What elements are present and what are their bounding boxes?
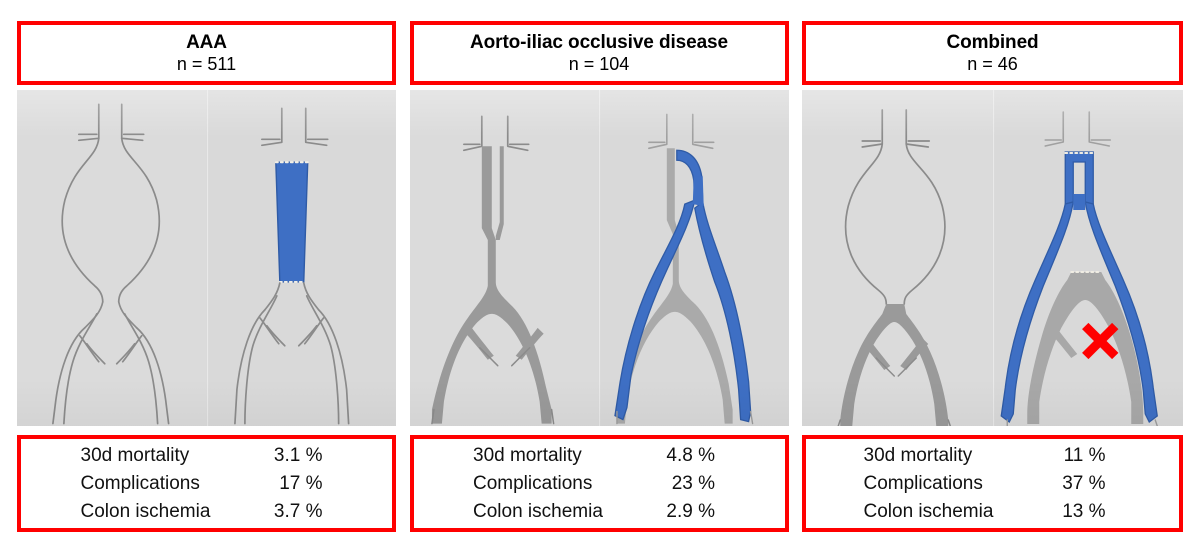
internal-iliac-left [465,328,493,360]
stat-label: Complications [864,470,1032,498]
comparison-figure: AAA n = 511 [0,0,1200,553]
illustration-aaa [17,90,396,426]
stat-label: 30d mortality [81,442,241,470]
illustration-combined-before [802,90,993,426]
stat-label: Colon ischemia [864,498,1032,526]
occlusion-shape-right [495,146,507,240]
tube-graft-shape [275,162,307,282]
illustration-combined [802,90,1183,426]
native-occluded-vessels [617,148,733,423]
panel-title: Aorto-iliac occlusive disease [470,32,728,53]
stat-value: 4.8 % [633,442,725,470]
aneurysm-diagram-icon [17,90,207,426]
stat-value: 11 % [1032,442,1122,470]
y-graft-with-exclusion-diagram-icon [993,90,1184,426]
stat-row: Complications 17 % [81,470,333,498]
panel-sample-size: n = 104 [569,54,630,74]
stat-row: 30d mortality 3.1 % [81,442,333,470]
illustration-aorto-iliac [410,90,789,426]
y-graft-crotch [693,176,704,206]
stats-aaa: 30d mortality 3.1 % Complications 17 % C… [17,435,396,532]
panel-combined: Combined n = 46 [802,21,1183,532]
tube-graft-diagram-icon [207,90,397,426]
iliac-occlusion-shape [840,304,948,426]
stat-label: 30d mortality [864,442,1032,470]
stat-value: 37 % [1032,470,1122,498]
stat-label: Colon ischemia [81,498,241,526]
stat-row: 30d mortality 11 % [864,442,1122,470]
illustration-aaa-after [207,90,397,426]
stat-row: 30d mortality 4.8 % [473,442,725,470]
stats-combined: 30d mortality 11 % Complications 37 % Co… [802,435,1183,532]
occlusive-disease-diagram-icon [410,90,600,426]
panel-aorto-iliac: Aorto-iliac occlusive disease n = 104 [410,21,789,532]
stat-label: Complications [473,470,633,498]
combined-pathology-diagram-icon [802,90,993,426]
stat-value: 23 % [633,470,725,498]
occlusion-shape [431,146,551,423]
panel-header-aaa: AAA n = 511 [17,21,396,85]
stat-row: Colon ischemia 13 % [864,498,1122,526]
y-graft-diagram-icon [599,90,789,426]
stat-value: 13 % [1032,498,1122,526]
stat-row: Colon ischemia 3.7 % [81,498,333,526]
stat-value: 17 % [241,470,333,498]
panel-aaa: AAA n = 511 [17,21,396,532]
stat-value: 3.7 % [241,498,333,526]
illustration-aorto-iliac-after [599,90,789,426]
panel-header-aorto-iliac: Aorto-iliac occlusive disease n = 104 [410,21,789,85]
panel-title: Combined [946,32,1038,53]
panel-title: AAA [186,32,227,53]
stats-aorto-iliac: 30d mortality 4.8 % Complications 23 % C… [410,435,789,532]
illustration-aaa-before [17,90,207,426]
illustration-aorto-iliac-before [410,90,600,426]
panel-header-combined: Combined n = 46 [802,21,1183,85]
red-x-marker [1085,326,1115,356]
stat-row: Colon ischemia 2.9 % [473,498,725,526]
stat-value: 3.1 % [241,442,333,470]
panel-sample-size: n = 511 [177,54,236,74]
stat-value: 2.9 % [633,498,725,526]
stat-row: Complications 37 % [864,470,1122,498]
stat-row: Complications 23 % [473,470,725,498]
stat-label: Complications [81,470,241,498]
stat-label: 30d mortality [473,442,633,470]
panel-sample-size: n = 46 [967,54,1018,74]
illustration-combined-after [993,90,1184,426]
stat-label: Colon ischemia [473,498,633,526]
y-graft-crotch [1073,194,1085,210]
